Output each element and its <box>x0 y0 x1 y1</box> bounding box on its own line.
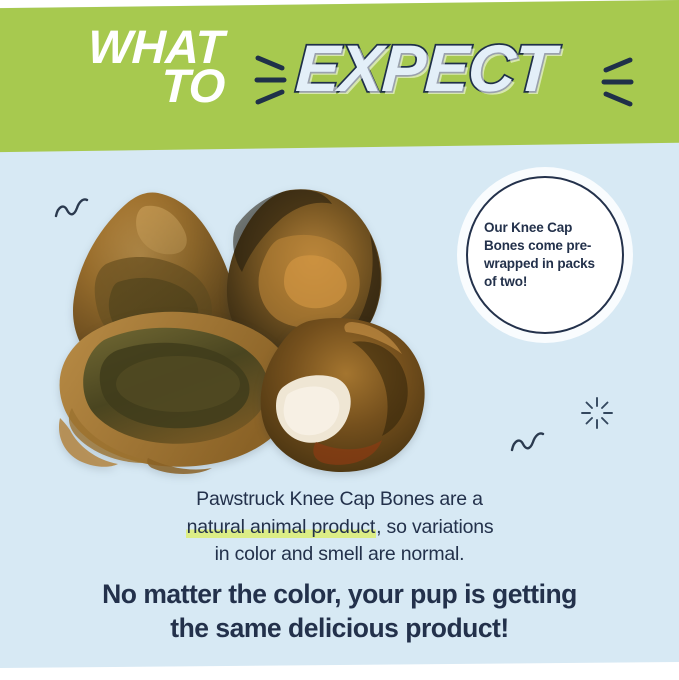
banner-title-line2: TO <box>87 67 264 106</box>
burst-dashes-icon <box>254 48 290 112</box>
banner-title-what-to: WHAT TO <box>88 28 264 105</box>
squiggle-icon <box>508 424 548 458</box>
description-line-1: Pawstruck Knee Cap Bones are a <box>0 486 679 514</box>
header-banner-content: WHAT TO EXPECT <box>0 0 679 156</box>
product-photo <box>52 186 502 476</box>
burst-dashes-icon <box>598 50 634 114</box>
callout-badge-text: Our Knee Cap Bones come pre-wrapped in p… <box>468 219 622 290</box>
closing-headline-line-1: No matter the color, your pup is getting <box>0 578 679 612</box>
description-paragraph: Pawstruck Knee Cap Bones are a natural a… <box>0 486 679 569</box>
description-line-3: in color and smell are normal. <box>0 541 679 569</box>
infographic-card: WHAT TO EXPECT <box>0 0 679 680</box>
closing-headline-line-2: the same delicious product! <box>0 612 679 646</box>
sparkle-icon <box>580 396 614 430</box>
description-text: Pawstruck Knee Cap Bones are a natural a… <box>0 486 679 569</box>
squiggle-icon <box>52 190 92 224</box>
description-line-2-rest: , so variations <box>376 516 493 538</box>
description-line-2: natural animal product, so variations <box>0 514 679 542</box>
closing-headline: No matter the color, your pup is getting… <box>0 578 679 646</box>
bone-bottom-right <box>256 314 432 476</box>
banner-title-emphasis: EXPECT <box>294 30 556 106</box>
highlighted-phrase: natural animal product <box>186 516 377 538</box>
callout-badge: Our Knee Cap Bones come pre-wrapped in p… <box>466 176 624 334</box>
